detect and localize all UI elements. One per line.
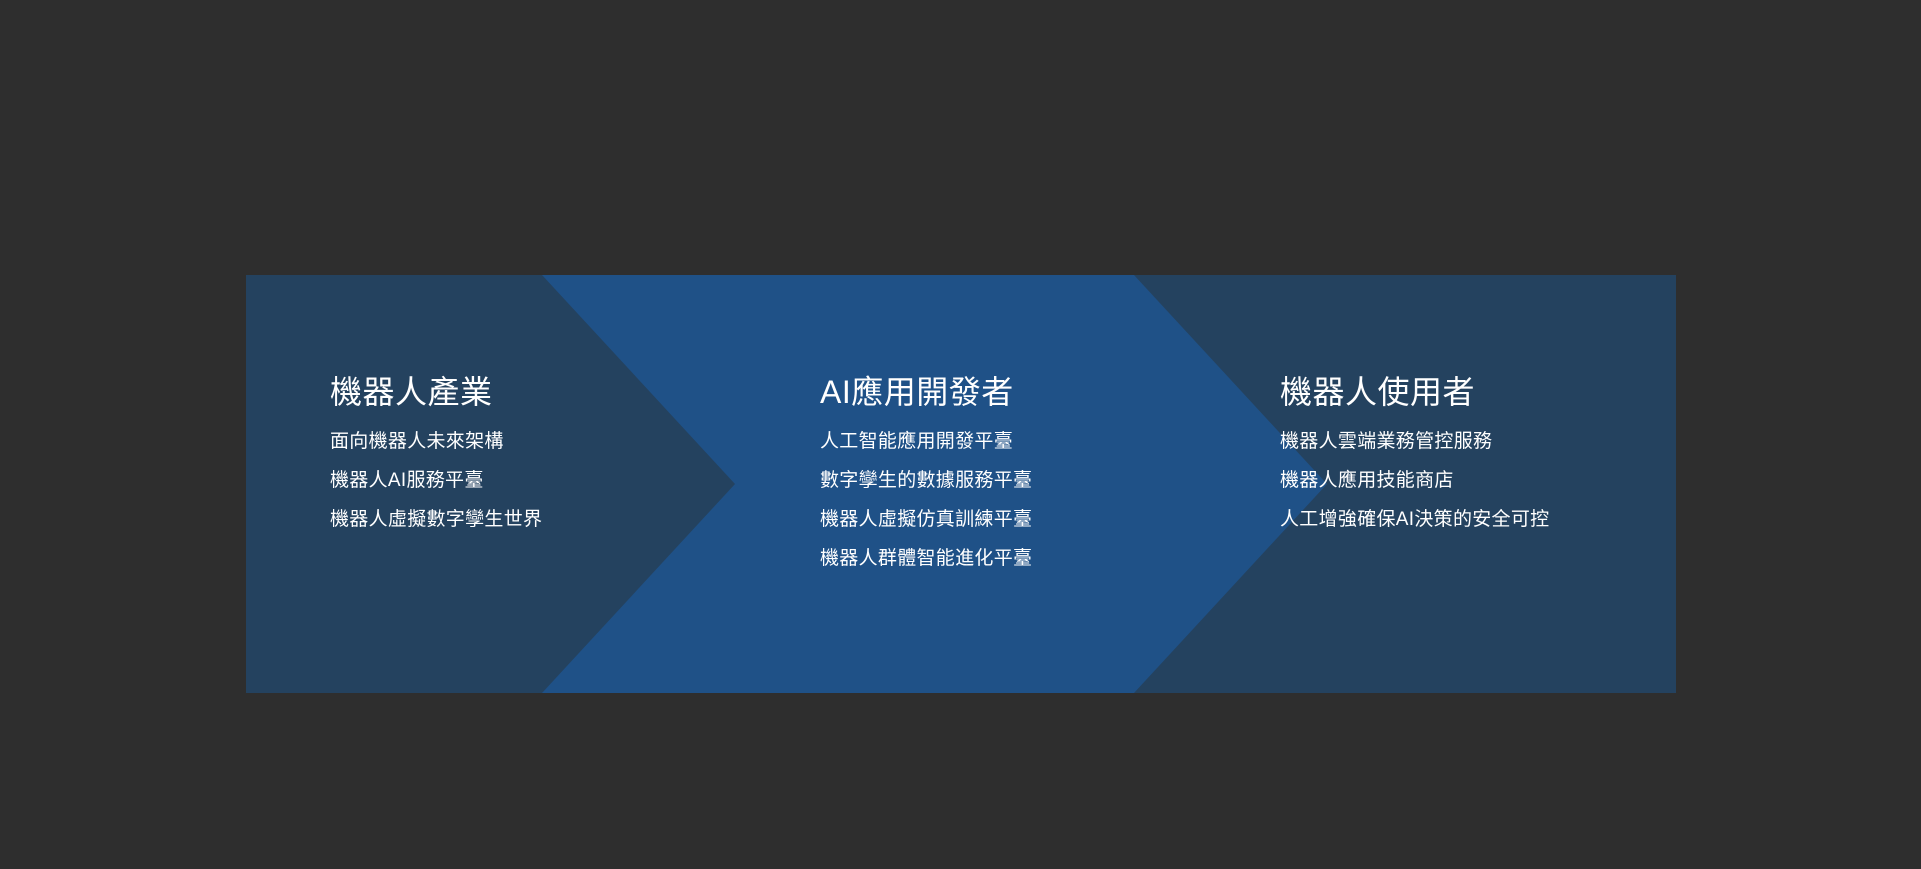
column-3-list: 機器人雲端業務管控服務 機器人應用技能商店 人工增強確保AI決策的安全可控: [1280, 431, 1549, 530]
column-2-list: 人工智能應用開發平臺 數字孿生的數據服務平臺 機器人虛擬仿真訓練平臺 機器人群體…: [820, 431, 1032, 569]
slide-canvas: 機器人產業 面向機器人未來架構 機器人AI服務平臺 機器人虛擬數字孿生世界 AI…: [0, 0, 1921, 869]
chevron-banner-panel: 機器人產業 面向機器人未來架構 機器人AI服務平臺 機器人虛擬數字孿生世界 AI…: [246, 275, 1676, 693]
list-item: 機器人虛擬數字孿生世界: [330, 509, 542, 530]
list-item: 機器人應用技能商店: [1280, 470, 1549, 491]
list-item: 面向機器人未來架構: [330, 431, 542, 452]
column-2-title: AI應用開發者: [820, 372, 1014, 412]
list-item: 人工增強確保AI決策的安全可控: [1280, 509, 1549, 530]
list-item: 機器人群體智能進化平臺: [820, 548, 1032, 569]
list-item: 人工智能應用開發平臺: [820, 431, 1032, 452]
column-1-title: 機器人產業: [330, 372, 493, 412]
list-item: 機器人雲端業務管控服務: [1280, 431, 1549, 452]
column-3-title: 機器人使用者: [1280, 372, 1475, 412]
column-1-list: 面向機器人未來架構 機器人AI服務平臺 機器人虛擬數字孿生世界: [330, 431, 542, 530]
list-item: 機器人AI服務平臺: [330, 470, 542, 491]
list-item: 機器人虛擬仿真訓練平臺: [820, 509, 1032, 530]
list-item: 數字孿生的數據服務平臺: [820, 470, 1032, 491]
